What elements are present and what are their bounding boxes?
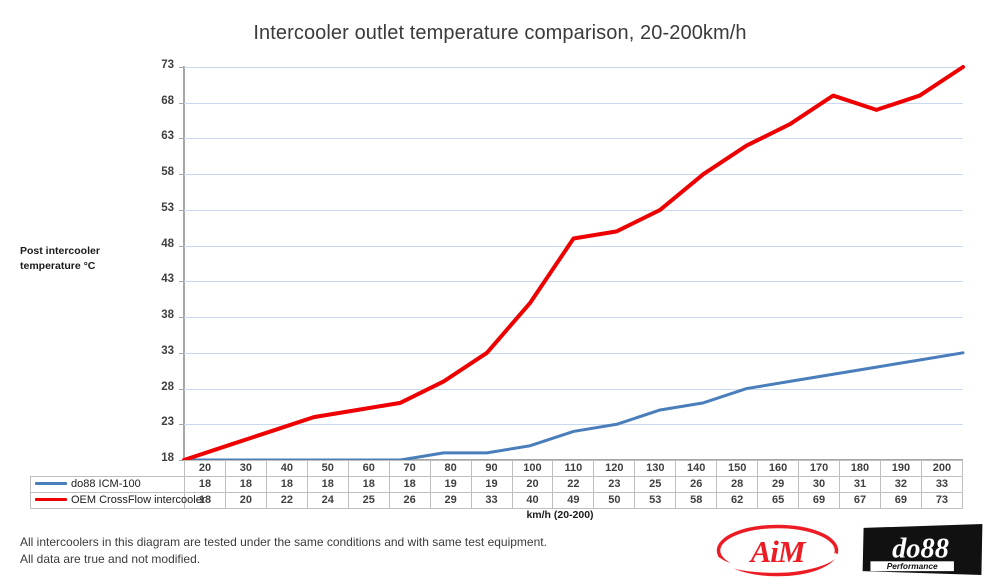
table-cell-category: 140 <box>676 461 717 477</box>
table-cell-value: 31 <box>840 477 881 493</box>
table-cell-value: 67 <box>840 493 881 509</box>
table-cell-value: 25 <box>348 493 389 509</box>
y-axis-title-line1: Post intercooler <box>20 244 150 259</box>
table-cell-category: 70 <box>389 461 430 477</box>
table-cell-value: 18 <box>348 477 389 493</box>
chart-page: Intercooler outlet temperature compariso… <box>0 0 1000 588</box>
y-tick-label: 68 <box>140 95 174 107</box>
table-cell-value: 18 <box>225 477 266 493</box>
table-cell-category: 150 <box>717 461 758 477</box>
table-row-categories: 2030405060708090100110120130140150160170… <box>31 461 963 477</box>
y-tick-label: 43 <box>140 273 174 285</box>
y-tick-label: 23 <box>140 416 174 428</box>
y-tick-mark <box>179 281 184 282</box>
table-cell-category: 60 <box>348 461 389 477</box>
y-tick-mark <box>179 424 184 425</box>
footnote-line2: All data are true and not modified. <box>20 551 660 568</box>
table-cell-value: 28 <box>717 477 758 493</box>
y-tick-label: 53 <box>140 202 174 214</box>
table-cell-category: 120 <box>594 461 635 477</box>
table-cell-value: 65 <box>758 493 799 509</box>
table-cell-value: 18 <box>266 477 307 493</box>
svg-text:AiM: AiM <box>749 534 807 569</box>
y-tick-label: 73 <box>140 59 174 71</box>
table-cell-value: 69 <box>880 493 921 509</box>
plot-area <box>184 67 963 460</box>
table-cell-value: 73 <box>921 493 962 509</box>
table-cell-value: 23 <box>594 477 635 493</box>
logo-group: AiM do88 Performance <box>715 520 985 582</box>
series-layer <box>184 67 963 460</box>
table-cell-category: 130 <box>635 461 676 477</box>
table-cell-category: 90 <box>471 461 512 477</box>
svg-text:do88: do88 <box>892 533 949 564</box>
table-cell-category: 40 <box>266 461 307 477</box>
table-corner-cell <box>31 461 185 477</box>
y-tick-mark <box>179 389 184 390</box>
table-cell-category: 80 <box>430 461 471 477</box>
table-cell-value: 22 <box>553 477 594 493</box>
y-tick-label: 58 <box>140 166 174 178</box>
table-cell-value: 20 <box>225 493 266 509</box>
table-cell-value: 26 <box>389 493 430 509</box>
aim-logo-icon: AiM <box>715 523 840 578</box>
legend-swatch-red-icon <box>35 498 67 501</box>
table-cell-value: 40 <box>512 493 553 509</box>
y-tick-mark <box>179 353 184 354</box>
series-line-0 <box>184 353 963 460</box>
footnote-line1: All intercoolers in this diagram are tes… <box>20 534 660 551</box>
series-line-1 <box>184 67 963 460</box>
table-cell-value: 33 <box>471 493 512 509</box>
legend-entry-do88: do88 ICM-100 <box>31 477 185 493</box>
table-cell-value: 19 <box>430 477 471 493</box>
table-cell-value: 30 <box>799 477 840 493</box>
y-tick-mark <box>179 67 184 68</box>
table-cell-value: 22 <box>266 493 307 509</box>
table-cell-category: 30 <box>225 461 266 477</box>
table-cell-value: 29 <box>758 477 799 493</box>
table-cell-value: 18 <box>307 477 348 493</box>
table-cell-category: 190 <box>880 461 921 477</box>
table-cell-value: 49 <box>553 493 594 509</box>
table-cell-value: 18 <box>185 477 226 493</box>
table-cell-category: 20 <box>185 461 226 477</box>
legend-label-oem: OEM CrossFlow intercooler <box>71 494 205 506</box>
legend-label-do88: do88 ICM-100 <box>71 478 141 490</box>
table-cell-value: 25 <box>635 477 676 493</box>
table-cell-category: 200 <box>921 461 962 477</box>
table-cell-value: 18 <box>389 477 430 493</box>
y-tick-label: 63 <box>140 130 174 142</box>
data-table: 2030405060708090100110120130140150160170… <box>30 460 963 509</box>
table-cell-value: 32 <box>880 477 921 493</box>
table-cell-value: 26 <box>676 477 717 493</box>
do88-logo-icon: do88 Performance <box>861 524 985 578</box>
y-tick-mark <box>179 138 184 139</box>
table-cell-category: 180 <box>840 461 881 477</box>
y-tick-label: 38 <box>140 309 174 321</box>
table-cell-category: 110 <box>553 461 594 477</box>
y-tick-mark <box>179 103 184 104</box>
y-tick-mark <box>179 210 184 211</box>
legend-entry-oem: OEM CrossFlow intercooler <box>31 493 185 509</box>
table-row-series-1: OEM CrossFlow intercooler 18202224252629… <box>31 493 963 509</box>
y-tick-label: 48 <box>140 238 174 250</box>
footnote: All intercoolers in this diagram are tes… <box>20 534 660 568</box>
table-cell-category: 50 <box>307 461 348 477</box>
table-cell-value: 53 <box>635 493 676 509</box>
table-cell-value: 24 <box>307 493 348 509</box>
y-tick-label: 28 <box>140 381 174 393</box>
y-tick-label: 33 <box>140 345 174 357</box>
y-axis-title-line2: temperature °C <box>20 259 150 274</box>
table-row-series-0: do88 ICM-100 181818181818191920222325262… <box>31 477 963 493</box>
page-title: Intercooler outlet temperature compariso… <box>0 22 1000 45</box>
table-cell-value: 69 <box>799 493 840 509</box>
table-cell-category: 170 <box>799 461 840 477</box>
table-cell-category: 100 <box>512 461 553 477</box>
x-axis-title: km/h (20-200) <box>420 509 700 521</box>
legend-swatch-blue-icon <box>35 482 67 485</box>
table-cell-value: 33 <box>921 477 962 493</box>
table-cell-value: 29 <box>430 493 471 509</box>
y-tick-mark <box>179 174 184 175</box>
table-cell-value: 20 <box>512 477 553 493</box>
svg-text:Performance: Performance <box>887 561 938 571</box>
table-cell-category: 160 <box>758 461 799 477</box>
y-tick-mark <box>179 246 184 247</box>
table-cell-value: 58 <box>676 493 717 509</box>
table-cell-value: 50 <box>594 493 635 509</box>
y-axis-title: Post intercooler temperature °C <box>20 244 150 274</box>
y-tick-mark <box>179 317 184 318</box>
table-cell-value: 19 <box>471 477 512 493</box>
table-cell-value: 62 <box>717 493 758 509</box>
